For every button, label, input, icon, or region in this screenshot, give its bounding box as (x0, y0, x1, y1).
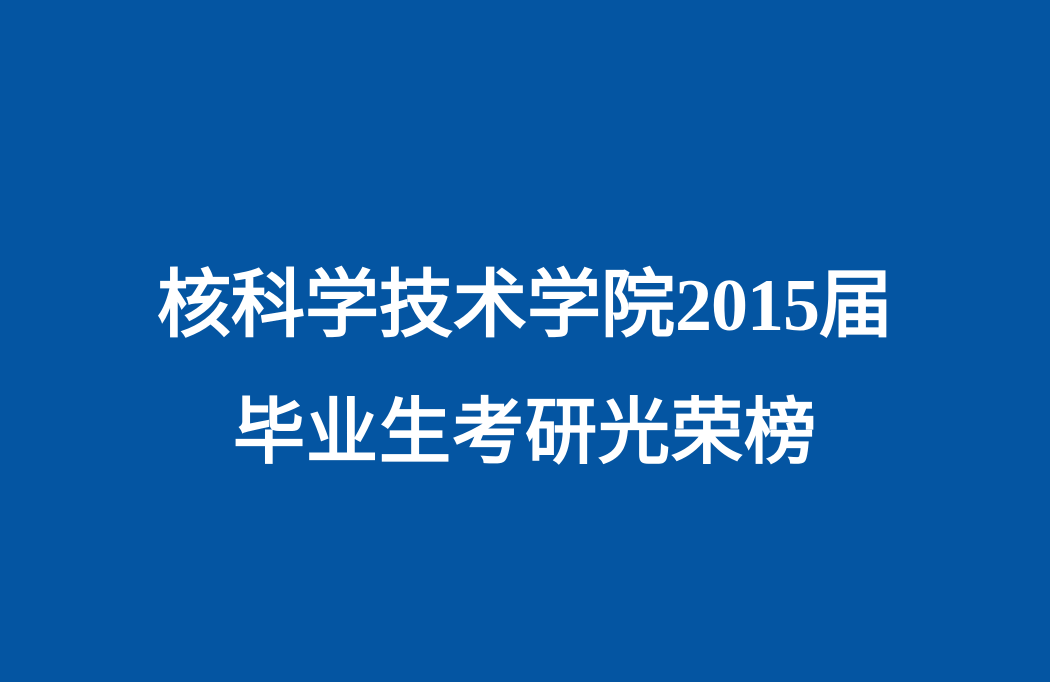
slide-title-line-1: 核科学技术学院2015届 (0, 243, 1050, 369)
slide-title-line-1-prefix: 核科学技术学院 (157, 262, 675, 348)
slide-title-year: 2015 (675, 265, 819, 347)
slide-canvas: 核科学技术学院2015届 毕业生考研光荣榜 (0, 0, 1050, 682)
slide-title-line-1-suffix: 届 (819, 262, 893, 348)
slide-title-block: 核科学技术学院2015届 毕业生考研光荣榜 (0, 243, 1050, 494)
slide-title-line-2: 毕业生考研光荣榜 (0, 369, 1050, 494)
